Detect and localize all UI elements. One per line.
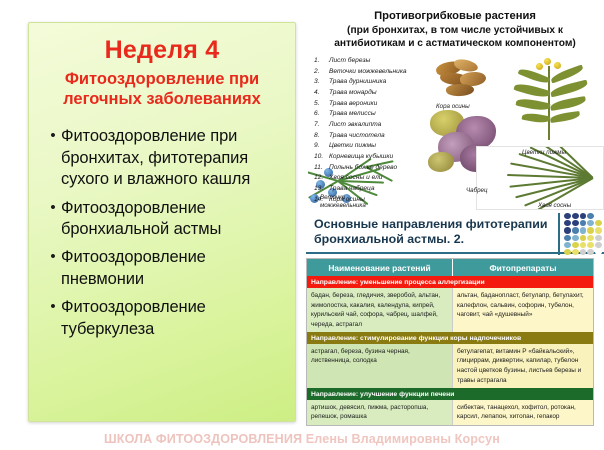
- banner-text: ШКОЛА ФИТООЗДОРОВЛЕНИЯ Елены Владимировн…: [104, 432, 500, 446]
- list-item: 5.Трава вероники: [314, 99, 436, 110]
- list-item: • Фитооздоровление пневмонии: [45, 247, 283, 290]
- cell-plants: артишок, девясил, пижма, расторопша, реп…: [307, 400, 453, 424]
- banner-school-label: ШКОЛА ФИТООЗДОРОВЛЕНИЯ: [104, 432, 306, 446]
- list-item: • Фитооздоровление при бронхитах, фитоте…: [45, 126, 283, 190]
- list-item-number: 1.: [314, 56, 329, 67]
- caption-pine: Хвоя сосны: [538, 202, 571, 209]
- phytotherapy-table: Наименование растений Фитопрепараты Напр…: [306, 258, 594, 425]
- bullet-dot-icon: •: [45, 297, 61, 317]
- list-item: 10.Корневища кубышки: [314, 152, 436, 163]
- section-heading-phytotherapy-directions: Основные направления фитотерапии бронхиа…: [306, 213, 604, 254]
- antifungal-plant-list: 1.Лист березы 2.Веточки можжевельника 3.…: [314, 56, 436, 205]
- bullet-dot-icon: •: [45, 126, 61, 146]
- list-item: • Фитооздоровление бронхиальной астмы: [45, 198, 283, 241]
- list-item: 12.Хвоя сосны и ели: [314, 173, 436, 184]
- table-row: бадан, береза, гледичия, зверобой, альта…: [307, 288, 593, 332]
- list-item: 8.Трава чистотела: [314, 131, 436, 142]
- subtitle-line-1: Фитооздоровление при: [43, 70, 281, 89]
- page-subtitle: Фитооздоровление при легочных заболевани…: [41, 70, 283, 109]
- bottom-banner: ШКОЛА ФИТООЗДОРОВЛЕНИЯ Елены Владимировн…: [0, 428, 604, 450]
- list-item-label: Фитооздоровление при бронхитах, фитотера…: [61, 126, 283, 190]
- list-item-number: 10.: [314, 152, 329, 163]
- column-header-plants: Наименование растений: [307, 259, 453, 276]
- section-heading-text: Основные направления фитотерапии бронхиа…: [314, 217, 552, 247]
- list-item-label: Трава дурнишника: [329, 77, 386, 88]
- list-item: 6.Трава мелиссы: [314, 109, 436, 120]
- bullet-dot-icon: •: [45, 247, 61, 267]
- caption-aspen-bark: Кора осины: [436, 103, 470, 110]
- list-item: 9.Цветки пижмы: [314, 141, 436, 152]
- topic-bullet-list: • Фитооздоровление при бронхитах, фитоте…: [41, 126, 283, 340]
- antifungal-heading-line-1: Противогрибковые растения: [308, 9, 602, 24]
- list-item: 7.Лист эвкалипта: [314, 120, 436, 131]
- list-item-label: Фитооздоровление бронхиальной астмы: [61, 198, 283, 241]
- antifungal-heading: Противогрибковые растения (при бронхитах…: [306, 6, 604, 53]
- list-item-number: 8.: [314, 131, 329, 142]
- antifungal-heading-line-2: (при бронхитах, в том числе устойчивых к: [308, 24, 602, 38]
- column-header-preparations: Фитопрепараты: [453, 259, 593, 276]
- subtitle-line-2: легочных заболеваниях: [43, 90, 281, 109]
- aspen-bark-photo: [434, 58, 492, 102]
- list-item: 1.Лист березы: [314, 56, 436, 67]
- list-item-label: Трава монарды: [329, 88, 377, 99]
- caption-thyme: Чабрец: [466, 187, 488, 194]
- list-item-label: Полынь божье дерево: [329, 163, 397, 174]
- section-heading-line-1: Основные направления фитотерапии: [314, 217, 552, 232]
- bullet-dot-icon: •: [45, 198, 61, 218]
- list-item-number: 6.: [314, 109, 329, 120]
- cell-plants: астрагал, береза, бузина черная, листвен…: [307, 344, 453, 388]
- list-item-label: Хвоя сосны и ели: [329, 173, 382, 184]
- list-item: 3.Трава дурнишника: [314, 77, 436, 88]
- cell-preparations: альтан, баданопласт, бетулапр, бетулахит…: [453, 288, 593, 332]
- list-item-number: 12.: [314, 173, 329, 184]
- caption-tansy: Цветки пижмы: [522, 149, 566, 156]
- list-item: 2.Веточки можжевельника: [314, 67, 436, 78]
- table-row: астрагал, береза, бузина черная, листвен…: [307, 344, 593, 388]
- list-item-label: Фитооздоровление пневмонии: [61, 247, 283, 290]
- cell-plants: бадан, береза, гледичия, зверобой, альта…: [307, 288, 453, 332]
- caption-juniper-line-1: Веточки: [320, 194, 345, 201]
- list-item: 4.Трава монарды: [314, 88, 436, 99]
- list-item-label: Трава чистотела: [329, 131, 385, 142]
- list-item-number: 5.: [314, 99, 329, 110]
- caption-juniper-line-2: можжевельника: [320, 202, 366, 209]
- cell-preparations: сибектан, танацехол, хофитол, ротокан, к…: [453, 400, 593, 424]
- section-heading-line-2: бронхиальной астмы. 2.: [314, 232, 552, 247]
- table-header-row: Наименование растений Фитопрепараты: [307, 259, 593, 276]
- direction-band-allergization: Направление: уменьшение процесса аллерги…: [307, 276, 593, 288]
- list-item-number: 4.: [314, 88, 329, 99]
- list-item-label: Лист эвкалипта: [329, 120, 381, 131]
- list-item-number: 11.: [314, 163, 329, 174]
- table-row: артишок, девясил, пижма, расторопша, реп…: [307, 400, 593, 424]
- list-item-label: Корневища кубышки: [329, 152, 393, 163]
- list-item-label: Трава мелиссы: [329, 109, 376, 120]
- list-item-number: 7.: [314, 120, 329, 131]
- list-item-label: Цветки пижмы: [329, 141, 376, 152]
- antifungal-heading-line-3: антибиотикам и с астматическом компонент…: [308, 37, 602, 51]
- right-content-column: Противогрибковые растения (при бронхитах…: [306, 6, 604, 426]
- list-item-number: 9.: [314, 141, 329, 152]
- list-item-number: 3.: [314, 77, 329, 88]
- list-item: • Фитооздоровление туберкулеза: [45, 297, 283, 340]
- slide-root: Неделя 4 Фитооздоровление при легочных з…: [0, 0, 604, 450]
- list-item-label: Фитооздоровление туберкулеза: [61, 297, 283, 340]
- cell-preparations: бетулагепат, витамин Р «байкальский», гл…: [453, 344, 593, 388]
- list-item-label: Лист березы: [329, 56, 370, 67]
- list-item-label: Трава вероники: [329, 99, 377, 110]
- page-title: Неделя 4: [41, 37, 283, 63]
- direction-band-liver-function: Направление: улучшение функции печени: [307, 388, 593, 400]
- left-title-panel: Неделя 4 Фитооздоровление при легочных з…: [28, 22, 296, 422]
- list-item: 11.Полынь божье дерево: [314, 163, 436, 174]
- direction-band-adrenal-cortex: Направление: стимулирование функции коры…: [307, 332, 593, 344]
- dot-grid-logo-icon: [558, 213, 602, 255]
- banner-author-name: Елены Владимировны Корсун: [306, 432, 500, 446]
- list-item-number: 2.: [314, 67, 329, 78]
- antifungal-plants-area: 1.Лист березы 2.Веточки можжевельника 3.…: [306, 54, 604, 209]
- list-item-label: Веточки можжевельника: [329, 67, 407, 78]
